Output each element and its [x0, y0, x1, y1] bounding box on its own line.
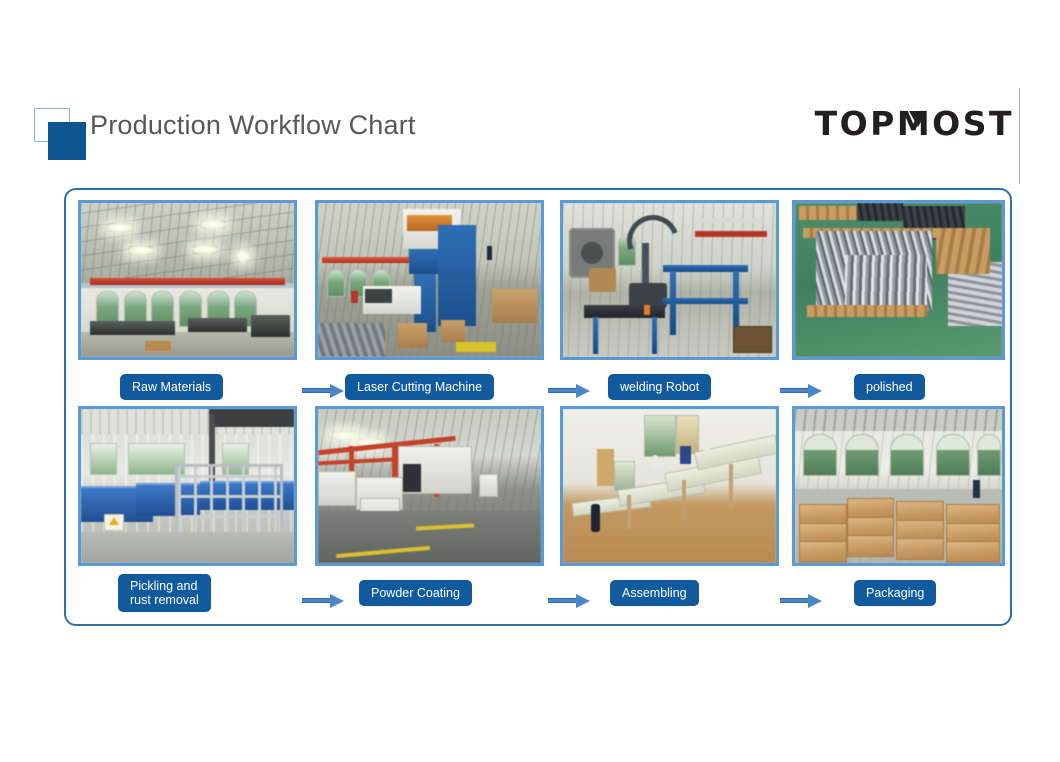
photo-pickling-tanks — [78, 406, 297, 566]
photo-welding-robot-cell — [560, 200, 779, 360]
step-label-pickling-and-rust-removal: Pickling and rust removal — [118, 574, 211, 612]
workflow-step-assembling[interactable]: Assembling — [560, 402, 779, 610]
workflow-panel: Raw Materials — [64, 188, 1012, 626]
photo-laser-cutting-machine — [315, 200, 544, 360]
workflow-step-raw-materials[interactable]: Raw Materials — [78, 196, 297, 404]
step-label-welding-robot: welding Robot — [608, 374, 711, 400]
photo-powder-coating-line — [315, 406, 544, 566]
workflow-step-pickling-and-rust-removal[interactable]: Pickling and rust removal — [78, 402, 297, 610]
workflow-step-polished[interactable]: polished — [792, 196, 1011, 404]
step-label-polished: polished — [854, 374, 925, 400]
step-label-powder-coating: Powder Coating — [359, 580, 472, 606]
workflow-step-packaging[interactable]: Packaging — [792, 402, 1011, 610]
header-divider — [1019, 88, 1021, 184]
step-label-packaging: Packaging — [854, 580, 936, 606]
photo-polished-metal-parts — [792, 200, 1005, 360]
workflow-row-1: Raw Materials — [66, 196, 1014, 404]
photo-assembly-workstations — [560, 406, 779, 566]
two-squares-icon — [34, 108, 88, 160]
brand-logo: TOPMOST — [815, 102, 1014, 144]
page-title: Production Workflow Chart — [90, 110, 416, 141]
step-label-raw-materials: Raw Materials — [120, 374, 223, 400]
page-header: Production Workflow Chart TOPMOST — [0, 0, 1060, 178]
photo-factory-workshop-interior — [78, 200, 297, 360]
logo-square-solid — [48, 122, 86, 160]
workflow-step-powder-coating[interactable]: Powder Coating — [315, 402, 534, 610]
photo-packaged-cartons — [792, 406, 1005, 566]
workflow-step-laser-cutting-machine[interactable]: Laser Cutting Machine — [315, 196, 534, 404]
step-label-assembling: Assembling — [610, 580, 699, 606]
workflow-step-welding-robot[interactable]: welding Robot — [560, 196, 779, 404]
workflow-row-2: Pickling and rust removal — [66, 402, 1014, 610]
step-label-laser-cutting-machine: Laser Cutting Machine — [345, 374, 494, 400]
brand-triangle-accent-icon — [909, 111, 927, 127]
